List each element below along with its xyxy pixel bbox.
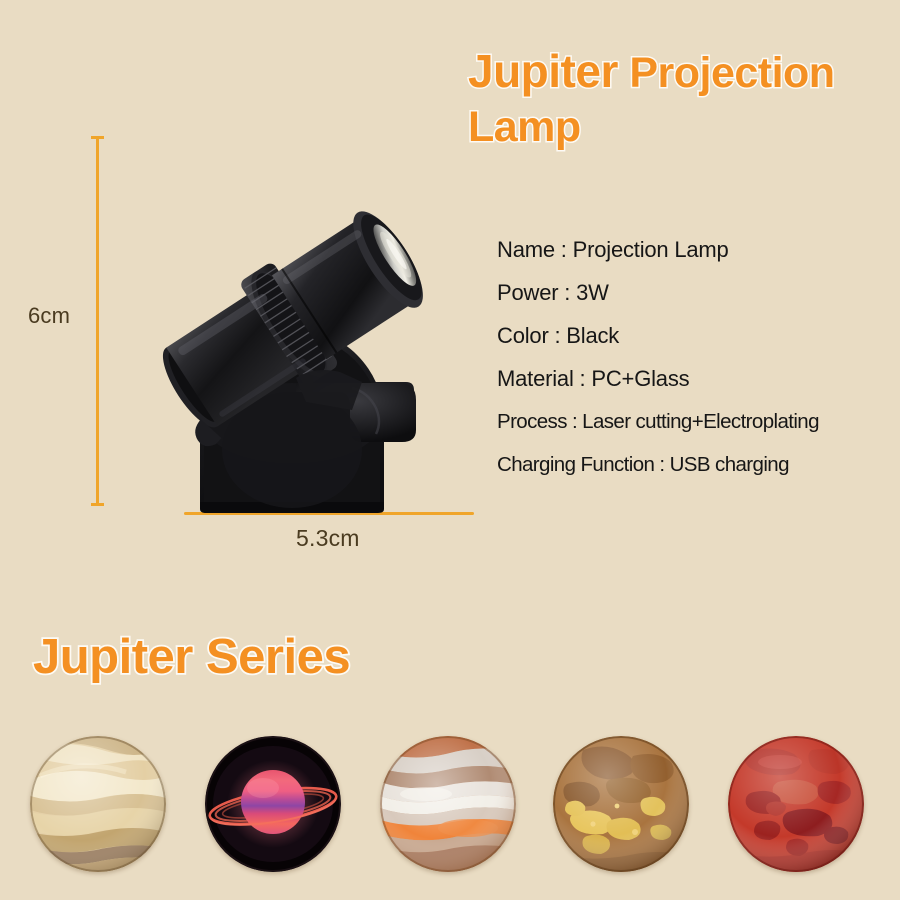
planet-thumbnail-saturn[interactable] <box>205 736 341 872</box>
spec-list: Name : Projection Lamp Power : 3W Color … <box>497 228 887 486</box>
planet-thumbnail-row <box>0 736 900 876</box>
planet-thumbnail-jupiter[interactable] <box>30 736 166 872</box>
title-brand: Jupiter <box>468 45 618 97</box>
planet-thumbnail-mars[interactable] <box>728 736 864 872</box>
spec-row-charging: Charging Function : USB charging <box>497 443 887 486</box>
spec-row-color: Color : Black <box>497 314 887 357</box>
height-dimension-line <box>96 136 99 506</box>
spec-row-process: Process : Laser cutting+Electroplating <box>497 400 887 443</box>
spec-row-name: Name : Projection Lamp <box>497 228 887 271</box>
title-rest: Projection <box>618 49 835 97</box>
planet-thumbnail-jupiter-orange[interactable] <box>380 736 516 872</box>
width-dimension-label: 5.3cm <box>296 525 360 552</box>
planet-thumbnail-io[interactable] <box>553 736 689 872</box>
spec-row-material: Material : PC+Glass <box>497 357 887 400</box>
series-heading: Jupiter Series <box>33 629 350 685</box>
page-title: Jupiter Projection Lamp <box>468 44 888 154</box>
height-dimension-label: 6cm <box>28 303 70 329</box>
product-photo-projection-lamp <box>100 120 490 515</box>
spec-row-power: Power : 3W <box>497 271 887 314</box>
infographic-page: Jupiter Projection Lamp Name : Projectio… <box>0 0 900 900</box>
